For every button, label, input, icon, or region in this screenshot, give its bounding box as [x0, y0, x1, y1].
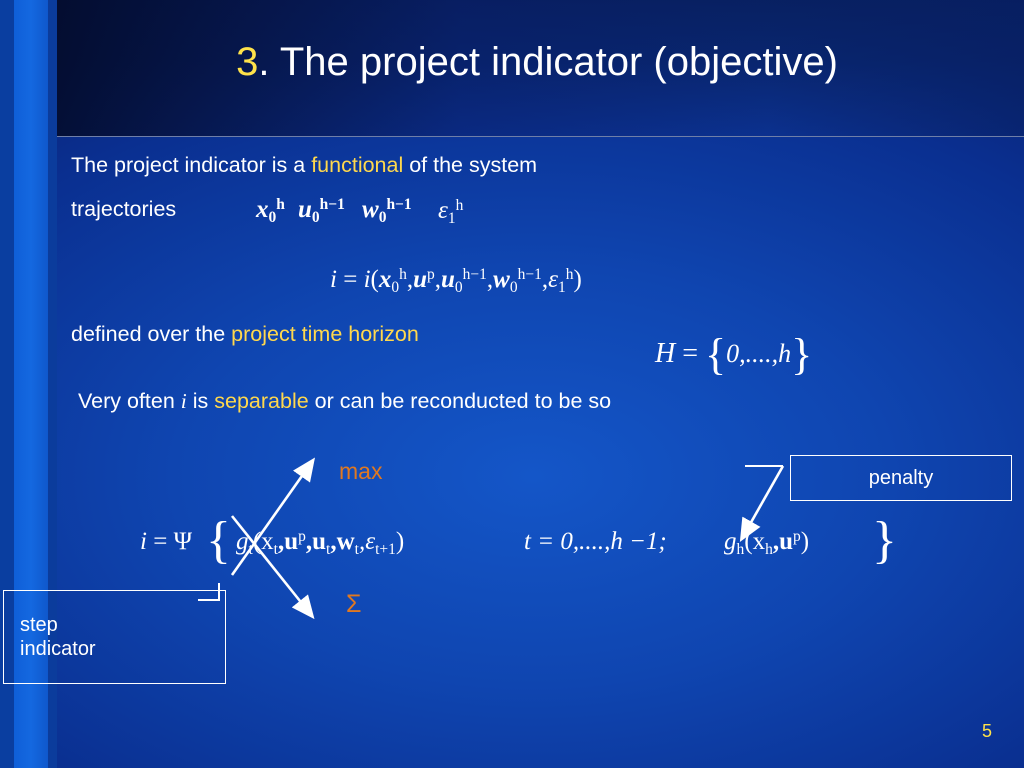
equation-t-range: t = 0,....,h −1; — [524, 528, 667, 556]
callout-max-label: max — [339, 458, 382, 485]
text-line-1: The project indicator is a functional of… — [71, 153, 537, 178]
trajectory-epsilon-symbol: ε1h — [438, 197, 463, 228]
equation-step-indicator: gt(xt,up,ut,wt,εt+1) — [236, 528, 404, 559]
text-line-3: defined over the project time horizon — [71, 322, 419, 347]
line4-part-b: is — [187, 389, 214, 413]
text-line-4: Very often i is separable or can be reco… — [78, 389, 611, 414]
penalty-callout-box: penalty — [790, 455, 1012, 501]
equation-separable-left: i = Ψ — [140, 528, 192, 556]
line3-highlight-horizon: project time horizon — [231, 322, 419, 346]
step-indicator-callout-label: step indicator — [20, 613, 96, 661]
callout-sigma-label: Σ — [346, 590, 361, 619]
trajectory-w-symbol: w0h−1 — [362, 196, 412, 227]
penalty-callout-label: penalty — [869, 466, 934, 490]
text-line-2: trajectories — [71, 197, 176, 222]
brace-close: } — [872, 511, 897, 570]
line4-highlight-separable: separable — [214, 389, 308, 413]
line4-part-a: Very often — [78, 389, 181, 413]
equation-indicator-definition: i = i(x0h,up,u0h−1,w0h−1,ε1h) — [330, 266, 582, 297]
equation-time-horizon: H = {0,....,h} — [655, 329, 812, 380]
line4-part-d: or can be reconducted to be so — [309, 389, 611, 413]
equation-penalty-term: gh(xh,up) — [724, 528, 809, 559]
slide-background: 3. The project indicator (objective) The… — [0, 0, 1024, 768]
line1-part-c: of the system — [403, 153, 537, 177]
step-indicator-callout-box: step indicator — [3, 590, 226, 684]
page-number: 5 — [982, 721, 992, 742]
arrow-to-penalty-term — [745, 466, 783, 533]
line3-part-a: defined over the — [71, 322, 231, 346]
slide-body: The project indicator is a functional of… — [0, 0, 1024, 768]
trajectory-x-symbol: x0h — [256, 196, 285, 227]
line1-highlight-functional: functional — [311, 153, 403, 177]
trajectory-u-symbol: u0h−1 — [298, 196, 345, 227]
line2-label: trajectories — [71, 197, 176, 221]
line1-part-a: The project indicator is a — [71, 153, 311, 177]
brace-open: { — [206, 511, 231, 570]
